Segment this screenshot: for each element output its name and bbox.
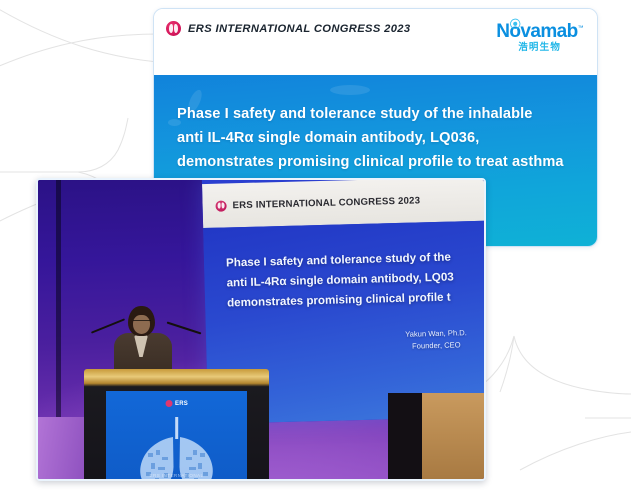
decorative-blob xyxy=(330,85,370,95)
stage-dark-band xyxy=(388,393,422,479)
podium-footer-label: ERS INTERNATIONAL xyxy=(150,473,204,478)
speaker-figure xyxy=(108,306,178,376)
novamab-wordmark-text: Novamab xyxy=(496,21,577,42)
podium-screen: ERS ER xyxy=(106,391,247,479)
conference-photo: ERS INTERNATIONAL CONGRESS 2023 Phase I … xyxy=(36,178,486,481)
slide-title-line: demonstrates promising clinical profile … xyxy=(177,151,577,175)
speaker-face xyxy=(133,315,150,334)
podium-ers-logo: ERS xyxy=(165,400,188,407)
slide-title-line: Phase I safety and tolerance study of th… xyxy=(177,103,577,127)
podium-ers-label: ERS xyxy=(175,401,188,407)
slide-title-line: anti IL-4Rα single domain antibody, LQ03… xyxy=(177,127,577,151)
lungs-illustration xyxy=(131,417,223,479)
projected-ers-label: ERS INTERNATIONAL CONGRESS 2023 xyxy=(232,195,420,211)
slide-title: Phase I safety and tolerance study of th… xyxy=(177,103,577,174)
ers-branding: ERS INTERNATIONAL CONGRESS 2023 xyxy=(166,21,410,36)
ers-lungs-circle-icon xyxy=(215,200,226,211)
novamab-logo: ⦿ Novamab™ 浩明生物 xyxy=(496,21,583,54)
ers-lungs-circle-icon xyxy=(166,21,181,36)
ers-lungs-circle-icon xyxy=(165,400,172,407)
ers-congress-label: ERS INTERNATIONAL CONGRESS 2023 xyxy=(188,23,410,35)
novamab-swoosh-icon: ⦿ xyxy=(510,19,522,31)
novamab-wordmark: ⦿ Novamab™ xyxy=(496,22,583,41)
projected-slide-header: ERS INTERNATIONAL CONGRESS 2023 xyxy=(202,178,486,228)
projected-slide-title: Phase I safety and tolerance study of th… xyxy=(226,246,486,313)
presenter-credit: Yakun Wan, Ph.D. Founder, CEO xyxy=(358,326,486,354)
stage-floor-right xyxy=(422,393,484,479)
stage-floor-left xyxy=(38,417,84,479)
novamab-chinese-subtitle: 浩明生物 xyxy=(496,42,583,54)
podium: ERS ER xyxy=(84,369,269,479)
speaker-glasses xyxy=(133,320,151,324)
screenshot-root: ERS INTERNATIONAL CONGRESS 2023 ⦿ Novama… xyxy=(0,0,631,495)
trademark-mark: ™ xyxy=(578,26,583,32)
slide-card-header: ERS INTERNATIONAL CONGRESS 2023 ⦿ Novama… xyxy=(154,9,597,75)
